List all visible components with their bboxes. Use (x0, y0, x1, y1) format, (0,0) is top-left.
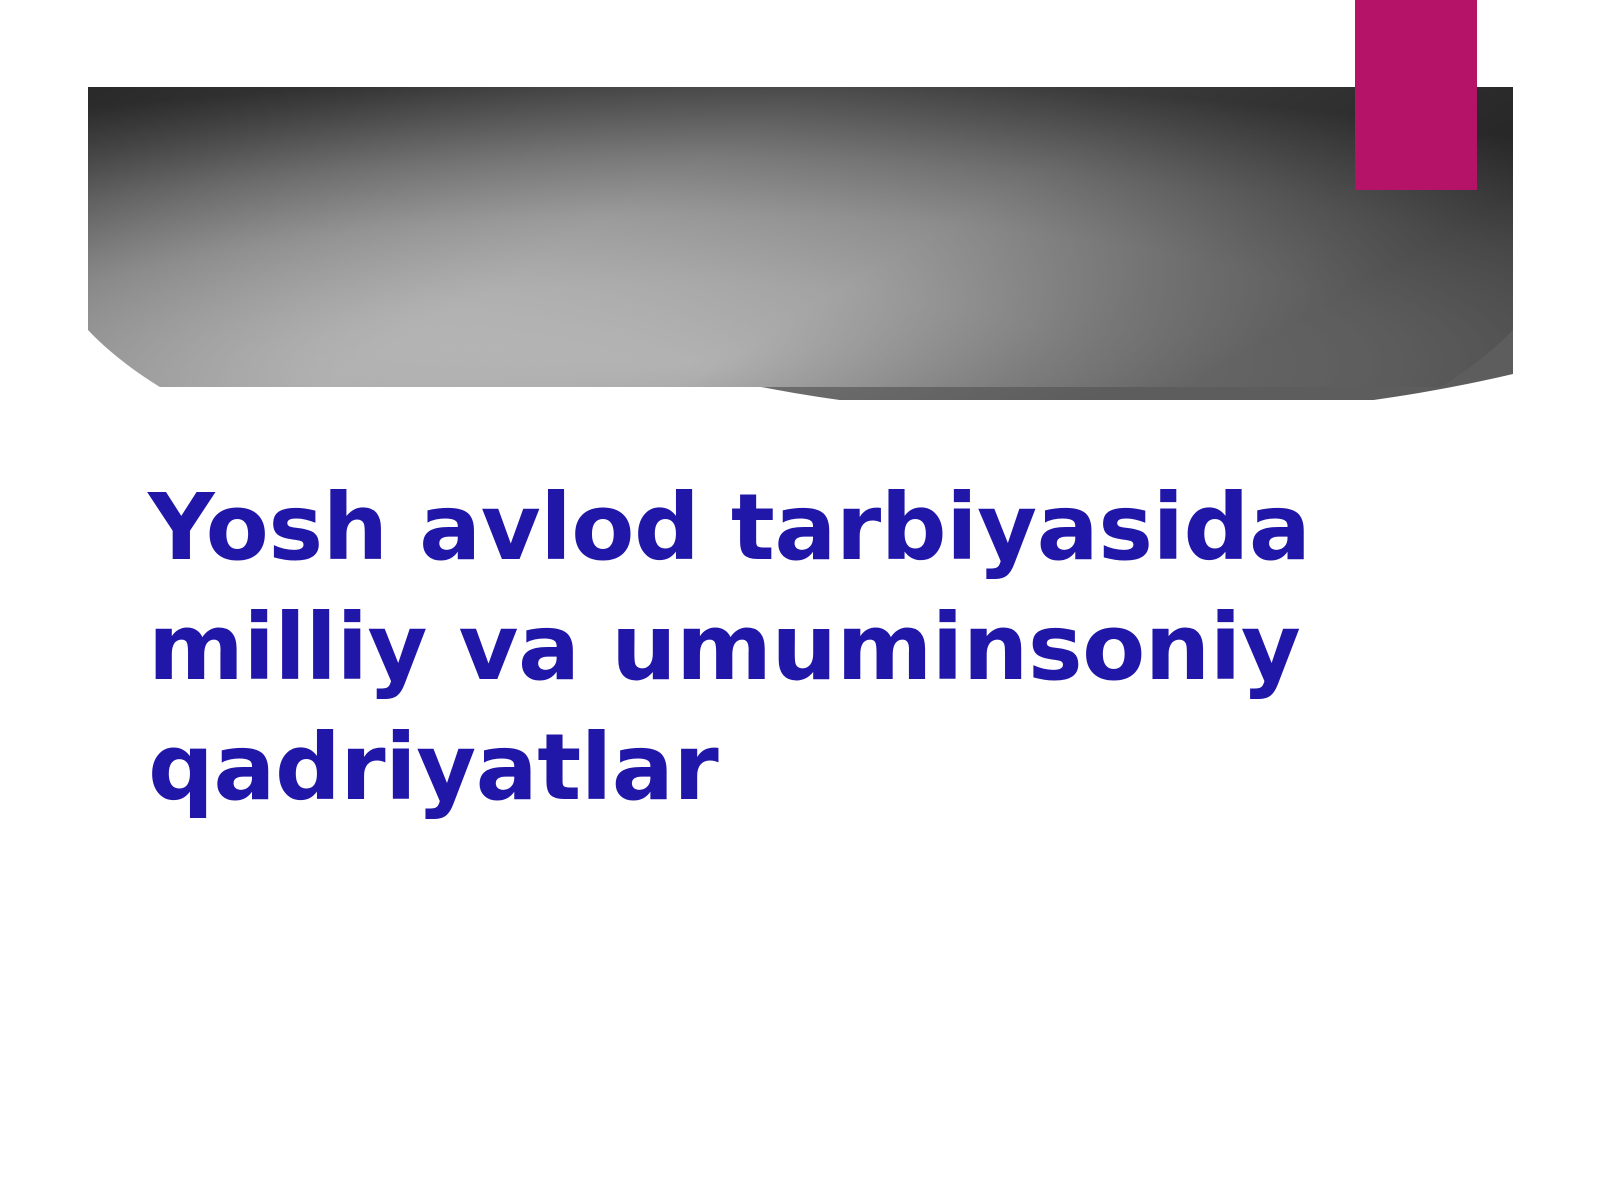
slide-header-decoration (0, 0, 1600, 420)
slide-canvas: Yosh avlod tarbiyasida milliy va umumins… (0, 0, 1600, 1200)
title-line-2: milliy va umuminsoniy (148, 588, 1418, 708)
magenta-accent-bar (1355, 0, 1477, 190)
banner-accent-band (80, 80, 1520, 400)
banner-body (88, 87, 1513, 387)
banner-svg (0, 0, 1600, 420)
title-line-1: Yosh avlod tarbiyasida (148, 468, 1418, 588)
slide-title: Yosh avlod tarbiyasida milliy va umumins… (148, 468, 1418, 828)
title-line-3: qadriyatlar (148, 708, 1418, 828)
